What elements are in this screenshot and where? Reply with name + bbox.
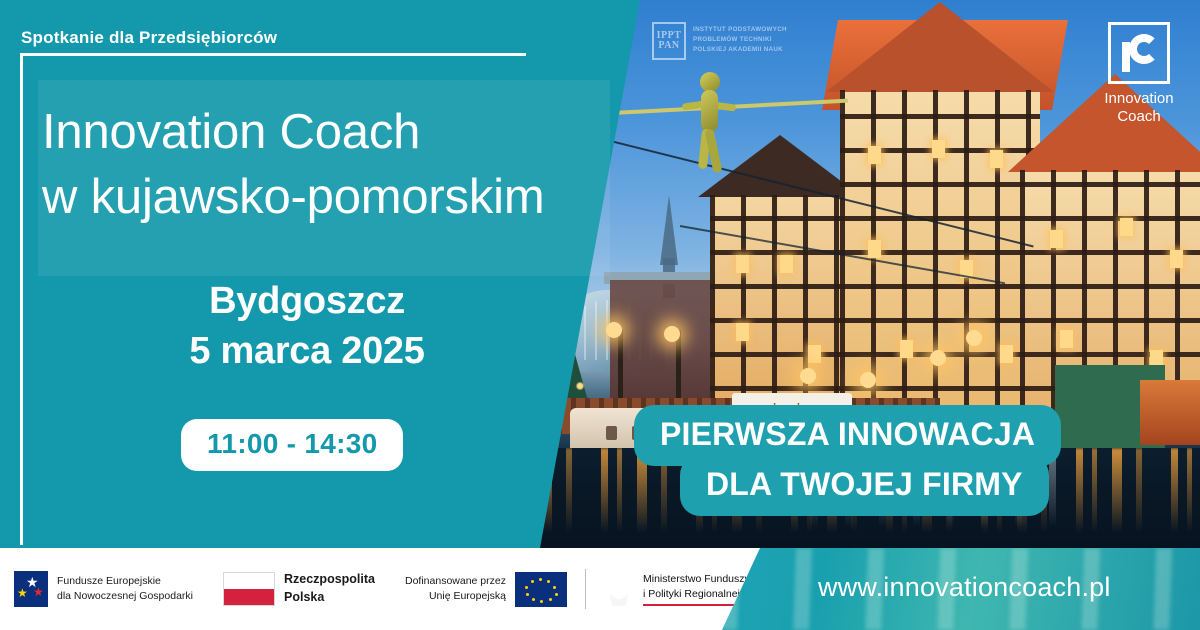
fundusze-europejskie-text: Fundusze Europejskie dla Nowoczesnej Gos… — [57, 574, 193, 604]
event-time-badge: 11:00 - 14:30 — [181, 419, 403, 471]
ic-word-1: Innovation — [1093, 90, 1185, 108]
title-line-2: w kujawsko-pomorskim — [42, 165, 602, 230]
rzeczpospolita-text: Rzeczpospolita Polska — [284, 571, 375, 607]
ue-line-1: Dofinansowane przez — [405, 574, 506, 589]
horizontal-rule — [20, 53, 526, 56]
event-date: 5 marca 2025 — [42, 326, 572, 376]
banner-line-2: DLA TWOJEJ FIRMY — [680, 455, 1049, 516]
funding-logo-row: ★★★ Fundusze Europejskie dla Nowoczesnej… — [14, 548, 750, 630]
ippt-line-2: PROBLEMÓW TECHNIKI — [693, 35, 787, 45]
polish-eagle-icon — [604, 572, 634, 606]
ippt-pan-wordmark: INSTYTUT PODSTAWOWYCH PROBLEMÓW TECHNIKI… — [693, 22, 787, 56]
fe-line-1: Fundusze Europejskie — [57, 574, 193, 589]
vertical-rule — [20, 53, 23, 545]
title-line-1: Innovation Coach — [42, 100, 602, 165]
innovation-coach-wordmark: Innovation Coach — [1093, 90, 1185, 125]
fundusze-europejskie-flag-icon: ★★★ — [14, 571, 48, 607]
ippt-pan-mark: IPPT PAN — [652, 22, 686, 60]
innovation-coach-logo: Innovation Coach — [1093, 22, 1185, 125]
logo-dofinansowane-przez-ue: Dofinansowane przez Unię Europejską — [405, 572, 567, 607]
rp-line-1: Rzeczpospolita — [284, 571, 375, 589]
rp-line-2: Polska — [284, 589, 375, 607]
ippt-line-3: POLSKIEJ AKADEMII NAUK — [693, 45, 787, 55]
fe-line-2: dla Nowoczesnej Gospodarki — [57, 589, 193, 604]
ippt-pan-logo: IPPT PAN INSTYTUT PODSTAWOWYCH PROBLEMÓW… — [652, 22, 787, 60]
event-kicker: Spotkanie dla Przedsiębiorców — [21, 28, 277, 48]
logo-rzeczpospolita-polska: Rzeczpospolita Polska — [223, 571, 375, 607]
logo-fundusze-europejskie: ★★★ Fundusze Europejskie dla Nowoczesnej… — [14, 571, 193, 607]
poland-flag-icon — [223, 572, 275, 606]
tightrope-walker-statue — [678, 72, 740, 182]
timber-frame — [710, 195, 850, 425]
event-poster: barka Spotkanie dla Przedsiębiorców Inno… — [0, 0, 1200, 630]
dofinansowane-text: Dofinansowane przez Unię Europejską — [405, 574, 506, 604]
ic-word-2: Coach — [1093, 108, 1185, 126]
riverside-restaurant — [1140, 380, 1200, 445]
ue-line-2: Unię Europejską — [405, 589, 506, 604]
page-title: Innovation Coach w kujawsko-pomorskim — [42, 100, 602, 229]
innovation-coach-mark-icon — [1108, 22, 1170, 84]
event-city: Bydgoszcz — [42, 276, 572, 326]
ippt-mark-bottom: PAN — [658, 41, 679, 51]
website-url-strip: www.innovationcoach.pl — [700, 548, 1200, 630]
church-spire-icon — [660, 195, 678, 265]
granary-left — [710, 195, 850, 425]
eu-flag-icon — [515, 572, 567, 607]
ic-letter-c — [1129, 34, 1159, 64]
event-location-date: Bydgoszcz 5 marca 2025 — [42, 276, 572, 376]
ippt-line-1: INSTYTUT PODSTAWOWYCH — [693, 25, 787, 35]
website-url[interactable]: www.innovationcoach.pl — [818, 572, 1111, 603]
footer-divider — [585, 569, 586, 609]
